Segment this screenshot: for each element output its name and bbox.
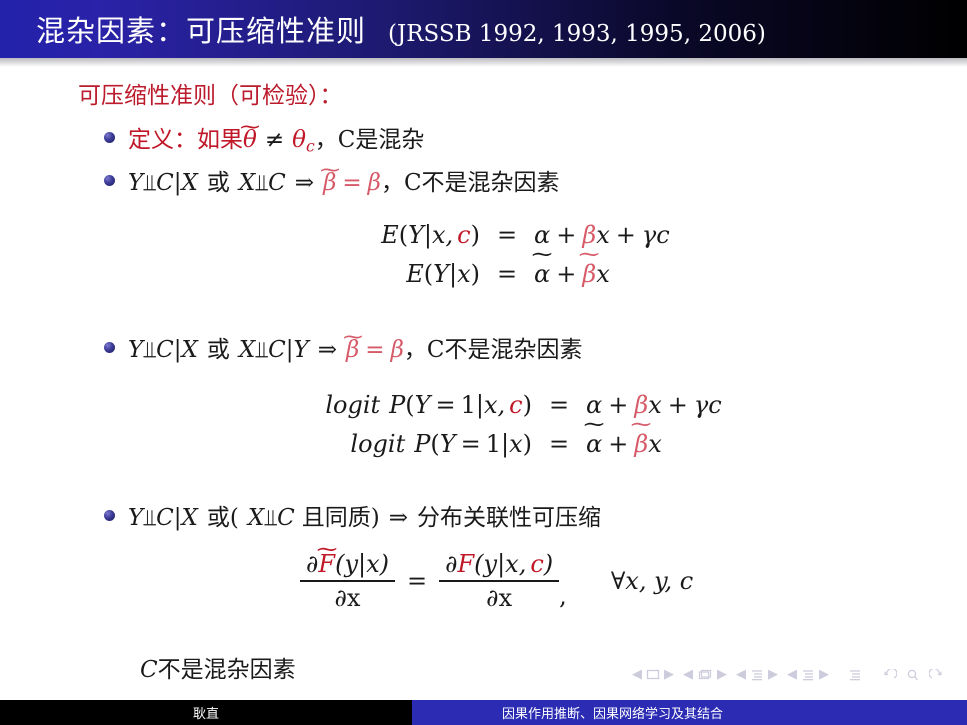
bullet-dot-icon <box>104 510 115 521</box>
frame-next-icon[interactable]: ▶ <box>717 668 727 681</box>
equation-relation: = <box>480 255 534 294</box>
equation-lhs: E(Y|x,c) <box>330 216 480 255</box>
fraction-comma: , <box>559 582 567 612</box>
section-icon[interactable] <box>801 669 815 681</box>
tilde-beta-symbol: β~ <box>634 425 648 464</box>
frame-prev-icon[interactable]: ◀ <box>683 668 693 681</box>
subsection-icon[interactable] <box>750 669 764 681</box>
page-title: 混杂因素：可压缩性准则 <box>36 8 366 50</box>
slide-title-bar: 混杂因素：可压缩性准则 (JRSSB 1992, 1993, 1995, 200… <box>0 0 967 58</box>
bullet-distribution-text: Y⫫C|X或(X⫫C且同质)⇒分布关联性可压缩 <box>128 498 601 532</box>
section-heading: 可压缩性准则（可检验）： <box>78 76 343 110</box>
back-icon[interactable] <box>883 669 897 681</box>
equation-relation: = <box>532 425 586 464</box>
neq-symbol: ≠ <box>265 127 284 153</box>
fraction-relation: = <box>407 567 427 595</box>
equation-row: E(Y|x,c) = α+βx+γc <box>330 216 670 255</box>
bullet-linear-text: Y⫫C|X或X⫫C⇒β~=β，C不是混杂因素 <box>128 163 560 197</box>
tilde-beta-symbol: β~ <box>323 170 336 196</box>
tilde-theta-symbol: θ~ <box>243 127 257 153</box>
bullet-dot-icon <box>104 132 115 143</box>
bullet-item-linear-model: Y⫫C|X或X⫫C⇒β~=β，C不是混杂因素 <box>104 163 560 197</box>
equation-block-linear: E(Y|x,c) = α+βx+γc E(Y|x) = α~+β~x <box>330 216 670 294</box>
bullet-logit-text: Y⫫C|X或X⫫C|Y⇒β~=β，C不是混杂因素 <box>128 330 582 364</box>
nav-group-subsection[interactable]: ◀ ▶ <box>736 668 778 681</box>
equation-row: E(Y|x) = α~+β~x <box>330 255 670 294</box>
fraction-numerator: ∂F~(y|x) <box>300 550 395 580</box>
slide-prev-icon[interactable]: ◀ <box>632 668 642 681</box>
footer-author: 耿直 <box>0 700 412 725</box>
equation-row: logitP(Y=1|x) = α~+β~x <box>280 425 722 464</box>
tilde-beta-symbol: β~ <box>346 337 359 363</box>
footer-title: 因果作用推断、因果网络学习及其结合 <box>412 700 967 725</box>
frame-icon[interactable] <box>697 669 713 681</box>
bullet-definition-suffix: ，C是混杂 <box>315 127 425 153</box>
equation-lhs: logitP(Y=1|x,c) <box>280 386 532 425</box>
title-reference: (JRSSB 1992, 1993, 1995, 2006) <box>388 21 766 47</box>
nav-group-frame[interactable]: ◀ ▶ <box>683 668 727 681</box>
beamer-navigation-bar[interactable]: ◀ ▶ ◀ ▶ ◀ <box>632 668 943 681</box>
tilde-F-symbol: F~ <box>318 550 335 578</box>
fraction-left: ∂F~(y|x) ∂x <box>300 550 395 612</box>
fraction-right: ∂F(y|x,c) ∂x <box>439 550 559 612</box>
section-next-icon[interactable]: ▶ <box>819 668 829 681</box>
bullet-item-distribution: Y⫫C|X或(X⫫C且同质)⇒分布关联性可压缩 <box>104 498 601 532</box>
fraction-denominator: ∂x <box>329 582 367 612</box>
nav-group-slide[interactable]: ◀ ▶ <box>632 668 674 681</box>
equation-relation: = <box>480 216 534 255</box>
slide-title-group: 混杂因素：可压缩性准则 (JRSSB 1992, 1993, 1995, 200… <box>0 8 766 50</box>
equation-rhs: α~+β~x <box>534 255 610 294</box>
equation-lhs: logitP(Y=1|x) <box>280 425 532 464</box>
section-prev-icon[interactable]: ◀ <box>787 668 797 681</box>
forward-icon[interactable] <box>929 669 943 681</box>
tilde-beta-symbol: β~ <box>582 255 596 294</box>
subsection-prev-icon[interactable]: ◀ <box>736 668 746 681</box>
doc-icon[interactable] <box>848 669 862 681</box>
tilde-alpha-symbol: α~ <box>586 425 602 464</box>
nav-group-section[interactable]: ◀ ▶ <box>787 668 829 681</box>
slide-footer: 耿直 因果作用推断、因果网络学习及其结合 <box>0 700 967 725</box>
theta-c-symbol: θc <box>292 127 315 153</box>
bullet-dot-icon <box>104 342 115 353</box>
slide-icon[interactable] <box>646 669 660 680</box>
equation-block-fraction: ∂F~(y|x) ∂x = ∂F(y|x,c) ∂x , ∀x, y, c <box>300 550 693 612</box>
presentation-slide: 混杂因素：可压缩性准则 (JRSSB 1992, 1993, 1995, 200… <box>0 0 967 725</box>
bullet-definition-text: 定义：如果θ~≠θc，C是混杂 <box>128 120 424 155</box>
slide-body: 可压缩性准则（可检验）： 定义：如果θ~≠θc，C是混杂 Y⫫C|X或X⫫C⇒β… <box>0 58 967 670</box>
bullet-definition-prefix: 定义：如果 <box>128 127 243 153</box>
equation-relation: = <box>532 386 586 425</box>
slide-next-icon[interactable]: ▶ <box>664 668 674 681</box>
closing-statement: CC不是混杂因素不是混杂因素 <box>140 650 296 684</box>
tilde-alpha-symbol: α~ <box>534 255 550 294</box>
fraction-denominator: ∂x <box>480 582 518 612</box>
fraction-numerator: ∂F(y|x,c) <box>439 550 559 580</box>
equation-lhs: E(Y|x) <box>330 255 480 294</box>
equation-block-logit: logitP(Y=1|x,c) = α+βx+γc logitP(Y=1|x) … <box>280 386 722 464</box>
equation-rhs: α~+β~x <box>586 425 662 464</box>
bullet-item-logit-model: Y⫫C|X或X⫫C|Y⇒β~=β，C不是混杂因素 <box>104 330 582 364</box>
bullet-dot-icon <box>104 175 115 186</box>
search-icon[interactable] <box>906 669 920 681</box>
equation-row: logitP(Y=1|x,c) = α+βx+γc <box>280 386 722 425</box>
bullet-item-definition: 定义：如果θ~≠θc，C是混杂 <box>104 120 424 155</box>
subsection-next-icon[interactable]: ▶ <box>768 668 778 681</box>
forall-clause: ∀x, y, c <box>611 567 693 595</box>
